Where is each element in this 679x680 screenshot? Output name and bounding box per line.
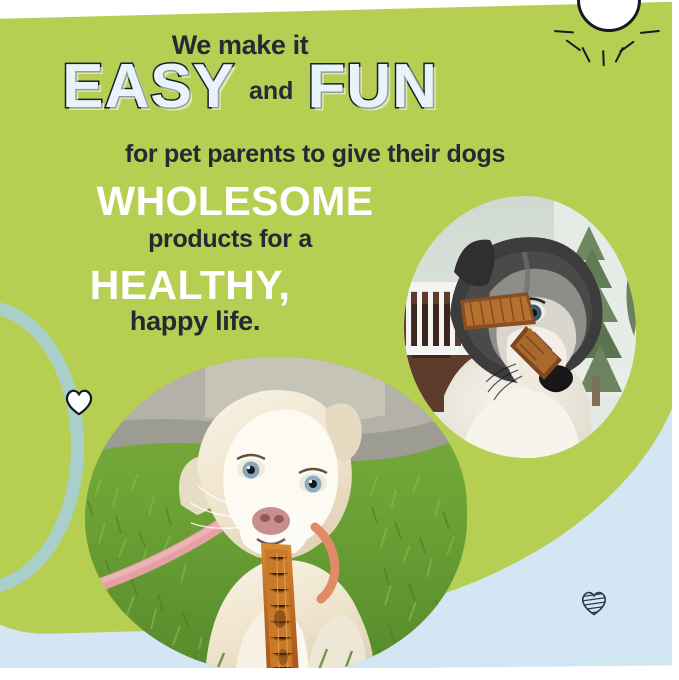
headline-healthy: HEALTHY,: [0, 262, 380, 309]
bottom-white-edge: [0, 668, 679, 680]
headline-wholesome: WHOLESOME: [0, 178, 470, 225]
headline-line-5: products for a: [0, 225, 460, 254]
right-white-edge: [672, 0, 679, 680]
headline-connector: and: [249, 77, 293, 106]
promo-banner: We make it EASY and FUN for pet parents …: [0, 0, 679, 680]
headline-word-fun: FUN: [307, 56, 437, 118]
headline-line-7: happy life.: [0, 306, 390, 337]
striped-heart-icon: [580, 590, 608, 616]
photo-husky-with-chew-treat: [404, 196, 636, 458]
headline-word-easy: EASY: [62, 56, 235, 118]
photo-cream-dog-with-chew-treat: [85, 357, 467, 675]
headline-line-3: for pet parents to give their dogs: [0, 140, 630, 169]
headline-big-row: EASY and FUN: [0, 56, 500, 118]
heart-icon: [64, 388, 94, 416]
